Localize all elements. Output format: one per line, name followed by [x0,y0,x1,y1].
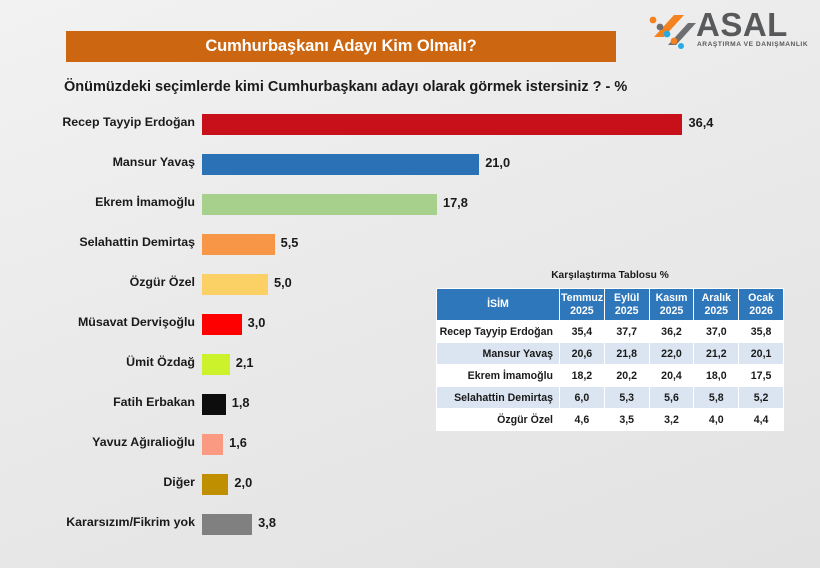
table-row: Özgür Özel4,63,53,24,04,4 [437,409,783,430]
page-title: Cumhurbaşkanı Adayı Kim Olmalı? [205,37,476,56]
bar-rect [202,234,275,255]
asal-logo: ASAL ARAŞTIRMA VE DANIŞMANLIK [648,8,808,54]
bar-rect [202,274,268,295]
table-cell-value: 5,6 [650,387,694,408]
table-cell-value: 4,6 [560,409,604,430]
bar-category-label: Recep Tayyip Erdoğan [0,115,195,129]
table-cell-value: 21,8 [605,343,649,364]
table-cell-value: 37,0 [694,321,738,342]
bar-rect [202,114,682,135]
table-col-name: İSİM [437,289,559,320]
table-col-period: Aralık2025 [694,289,738,320]
table-col-line2: 2025 [561,305,603,318]
table-cell-value: 35,4 [560,321,604,342]
table-cell-value: 4,4 [739,409,783,430]
table-cell-value: 35,8 [739,321,783,342]
table-col-period: Temmuz2025 [560,289,604,320]
bar-row: Diğer2,0 [0,464,820,504]
table-cell-name: Recep Tayyip Erdoğan [437,321,559,342]
table-row: Mansur Yavaş20,621,822,021,220,1 [437,343,783,364]
table-col-line1: Ocak [740,292,782,305]
table-col-period: Eylül2025 [605,289,649,320]
asal-logo-mark-icon [648,11,696,49]
table-col-line2: 2026 [740,305,782,318]
bar-rect [202,154,479,175]
bar-category-label: Diğer [0,475,195,489]
title-banner: Cumhurbaşkanı Adayı Kim Olmalı? [66,31,616,62]
bar-value-label: 5,0 [274,275,292,290]
table-col-period: Kasım2025 [650,289,694,320]
table-cell-value: 5,3 [605,387,649,408]
bar-row: Mansur Yavaş21,0 [0,144,820,184]
table-col-line2: 2025 [695,305,737,318]
bar-category-label: Ümit Özdağ [0,355,195,369]
chart-subtitle: Önümüzdeki seçimlerde kimi Cumhurbaşkanı… [64,79,627,95]
table-cell-value: 4,0 [694,409,738,430]
table-cell-value: 37,7 [605,321,649,342]
bar-value-label: 17,8 [443,195,468,210]
bar-category-label: Özgür Özel [0,275,195,289]
table-cell-value: 21,2 [694,343,738,364]
table-col-line1: Aralık [695,292,737,305]
table-col-line1: İSİM [438,298,558,311]
table-cell-name: Mansur Yavaş [437,343,559,364]
bar-rect [202,474,228,495]
comparison-table-body: Recep Tayyip Erdoğan35,437,736,237,035,8… [437,321,783,430]
table-cell-value: 20,4 [650,365,694,386]
bar-category-label: Selahattin Demirtaş [0,235,195,249]
table-row: Selahattin Demirtaş6,05,35,65,85,2 [437,387,783,408]
bar-rect [202,434,223,455]
bar-value-label: 3,8 [258,515,276,530]
asal-logo-text: ASAL ARAŞTIRMA VE DANIŞMANLIK [696,8,808,54]
bar-value-label: 36,4 [688,115,713,130]
logo-tagline: ARAŞTIRMA VE DANIŞMANLIK [697,41,808,48]
table-cell-value: 18,0 [694,365,738,386]
bar-rect [202,394,226,415]
bar-category-label: Mansur Yavaş [0,155,195,169]
bar-value-label: 2,1 [236,355,254,370]
table-cell-value: 36,2 [650,321,694,342]
bar-category-label: Yavuz Ağıralioğlu [0,435,195,449]
bar-row: Selahattin Demirtaş5,5 [0,224,820,264]
poll-infographic: Cumhurbaşkanı Adayı Kim Olmalı? ASAL ARA… [0,0,820,568]
bar-rect [202,514,252,535]
bar-category-label: Fatih Erbakan [0,395,195,409]
bar-category-label: Ekrem İmamoğlu [0,195,195,209]
table-cell-value: 20,1 [739,343,783,364]
bar-rect [202,314,242,335]
bar-value-label: 2,0 [234,475,252,490]
table-col-line1: Temmuz [561,292,603,305]
comparison-table-head: İSİMTemmuz2025Eylül2025Kasım2025Aralık20… [437,289,783,320]
bar-value-label: 1,6 [229,435,247,450]
table-cell-value: 5,8 [694,387,738,408]
table-cell-value: 20,2 [605,365,649,386]
table-cell-value: 18,2 [560,365,604,386]
table-cell-value: 3,2 [650,409,694,430]
table-cell-name: Özgür Özel [437,409,559,430]
logo-brand-name: ASAL [696,8,788,42]
table-row: Recep Tayyip Erdoğan35,437,736,237,035,8 [437,321,783,342]
bar-value-label: 1,8 [232,395,250,410]
table-row: Ekrem İmamoğlu18,220,220,418,017,5 [437,365,783,386]
bar-row: Recep Tayyip Erdoğan36,4 [0,104,820,144]
table-cell-value: 20,6 [560,343,604,364]
bar-row: Kararsızım/Fikrim yok3,8 [0,504,820,544]
table-cell-value: 17,5 [739,365,783,386]
comparison-table-header-row: İSİMTemmuz2025Eylül2025Kasım2025Aralık20… [437,289,783,320]
bar-value-label: 3,0 [248,315,266,330]
table-cell-value: 3,5 [605,409,649,430]
table-cell-name: Selahattin Demirtaş [437,387,559,408]
bar-value-label: 5,5 [281,235,299,250]
bar-value-label: 21,0 [485,155,510,170]
table-cell-value: 5,2 [739,387,783,408]
table-col-line2: 2025 [651,305,693,318]
bar-rect [202,354,230,375]
table-cell-name: Ekrem İmamoğlu [437,365,559,386]
bar-category-label: Müsavat Dervişoğlu [0,315,195,329]
table-col-line1: Eylül [606,292,648,305]
comparison-table-caption: Karşılaştırma Tablosu % [436,270,784,281]
table-col-line1: Kasım [651,292,693,305]
table-cell-value: 6,0 [560,387,604,408]
bar-row: Ekrem İmamoğlu17,8 [0,184,820,224]
comparison-table: İSİMTemmuz2025Eylül2025Kasım2025Aralık20… [436,288,784,431]
bar-category-label: Kararsızım/Fikrim yok [0,515,195,529]
table-col-line2: 2025 [606,305,648,318]
bar-rect [202,194,437,215]
table-col-period: Ocak2026 [739,289,783,320]
table-cell-value: 22,0 [650,343,694,364]
